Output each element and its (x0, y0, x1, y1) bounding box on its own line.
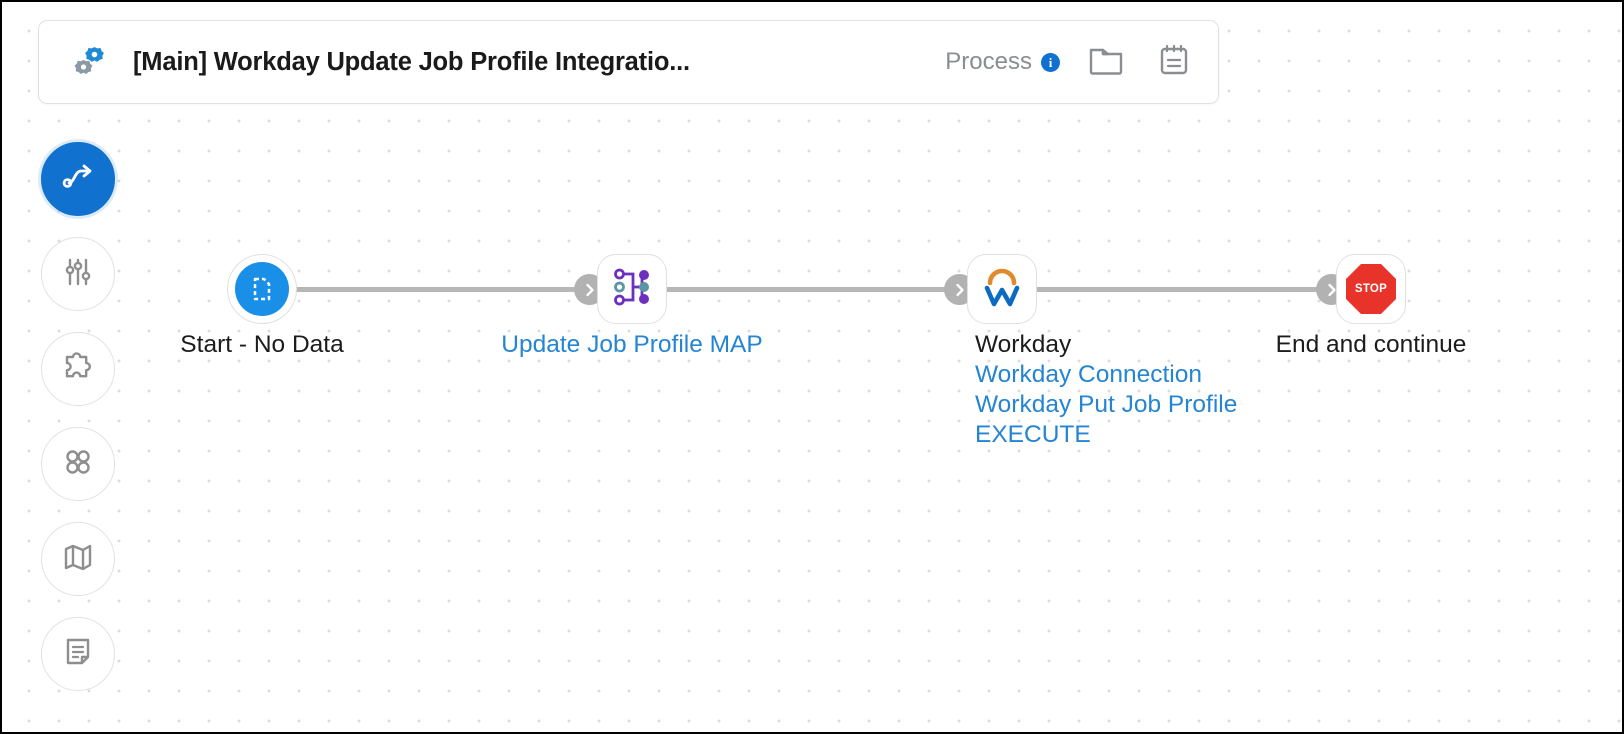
flow-node-map-shape[interactable] (597, 254, 667, 324)
flow-node-workday-label: Workday (975, 331, 1071, 358)
flow-node-map[interactable]: Update Job Profile MAP (597, 254, 667, 324)
chevron-right-icon (952, 282, 968, 298)
process-designer-window: [Main] Workday Update Job Profile Integr… (0, 0, 1624, 734)
data-mapping-icon (609, 264, 655, 315)
flow-node-start[interactable]: Start - No Data (227, 254, 297, 324)
flow-node-end-shape[interactable]: STOP (1336, 254, 1406, 324)
process-flow: Start - No Data (2, 2, 1622, 732)
flow-node-start-shape[interactable] (227, 254, 297, 324)
flow-node-map-label[interactable]: Update Job Profile MAP (501, 330, 762, 360)
flow-node-end[interactable]: STOP End and continue (1336, 254, 1406, 324)
chevron-right-icon (582, 282, 598, 298)
flow-node-workday-shape[interactable] (967, 254, 1037, 324)
connector-map-to-workday (660, 287, 960, 292)
flow-node-start-label: Start - No Data (180, 330, 343, 360)
dashed-document-icon (235, 262, 289, 316)
flow-node-workday-labels: Workday Workday Connection Workday Put J… (975, 330, 1237, 450)
connector-workday-to-end (1031, 287, 1333, 292)
flow-node-workday-action-link[interactable]: EXECUTE (975, 420, 1237, 450)
flow-node-workday-connection-link[interactable]: Workday Connection (975, 360, 1237, 390)
workday-logo-icon (976, 263, 1028, 316)
flow-node-workday-operation-link[interactable]: Workday Put Job Profile (975, 390, 1237, 420)
stop-sign-icon: STOP (1346, 264, 1396, 314)
flow-node-end-label: End and continue (1276, 330, 1467, 360)
connector-start-to-map (295, 287, 589, 292)
flow-node-workday[interactable]: Workday Workday Connection Workday Put J… (967, 254, 1037, 324)
